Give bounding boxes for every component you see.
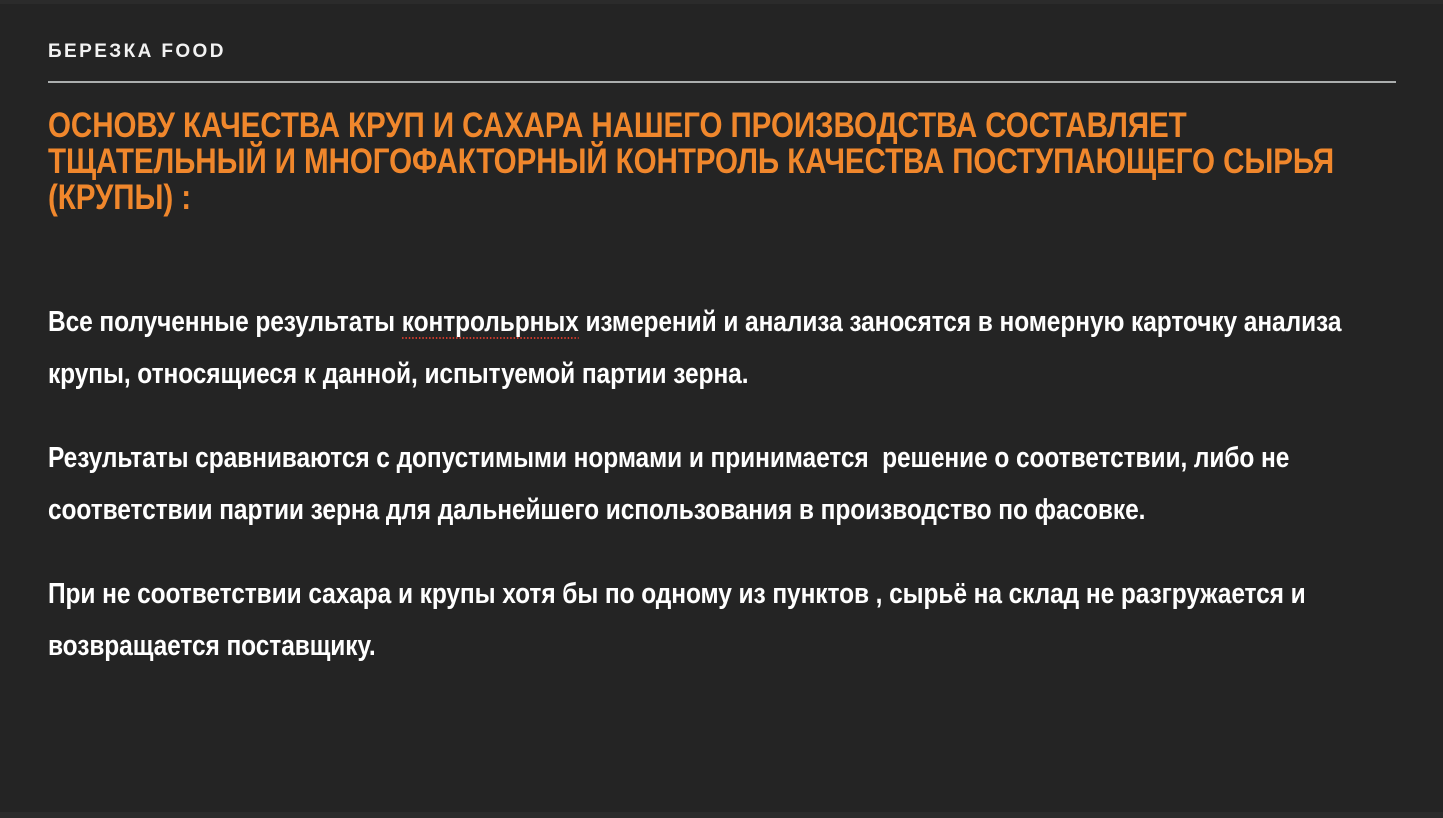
slide-headline: Основу качества круп и сахара нашего про… [48,108,1397,216]
misspelled-word: контрольрных [402,306,579,340]
slide-content-area: БЕРЕЗКА FOOD Основу качества круп и саха… [48,0,1396,818]
body-paragraph-3: При не соответствии сахара и крупы хотя … [48,568,1397,672]
slide-body: Все полученные результаты контрольрных и… [48,296,1397,672]
brand-header: БЕРЕЗКА FOOD [48,42,226,61]
body-paragraph-2: Результаты сравниваются с допустимыми но… [48,432,1397,536]
slide-bottom-edge-band [0,812,1443,818]
presentation-slide: БЕРЕЗКА FOOD Основу качества круп и саха… [0,0,1443,818]
paragraph-1-text-before: Все полученные результаты [48,306,402,338]
header-divider-rule [48,81,1396,83]
body-paragraph-1: Все полученные результаты контрольрных и… [48,296,1397,400]
